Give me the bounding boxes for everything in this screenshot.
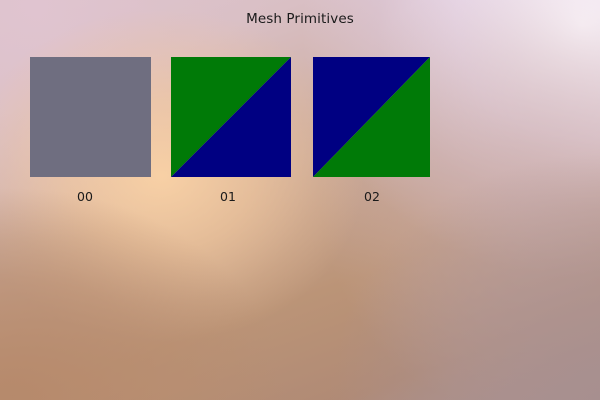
primitive-02-shape	[313, 57, 430, 177]
figure-title: Mesh Primitives	[0, 11, 600, 27]
primitive-tile-01	[171, 57, 291, 177]
primitive-00-shape	[30, 57, 151, 177]
primitive-00-quad	[30, 57, 151, 177]
primitive-tile-02	[313, 57, 430, 177]
primitive-label-02: 02	[342, 189, 402, 204]
primitive-label-01: 01	[198, 189, 258, 204]
primitive-tile-00	[30, 57, 151, 177]
mesh-primitives-figure: Mesh Primitives 00 01 02	[0, 0, 600, 400]
primitive-label-00: 00	[55, 189, 115, 204]
primitive-01-shape	[171, 57, 291, 177]
